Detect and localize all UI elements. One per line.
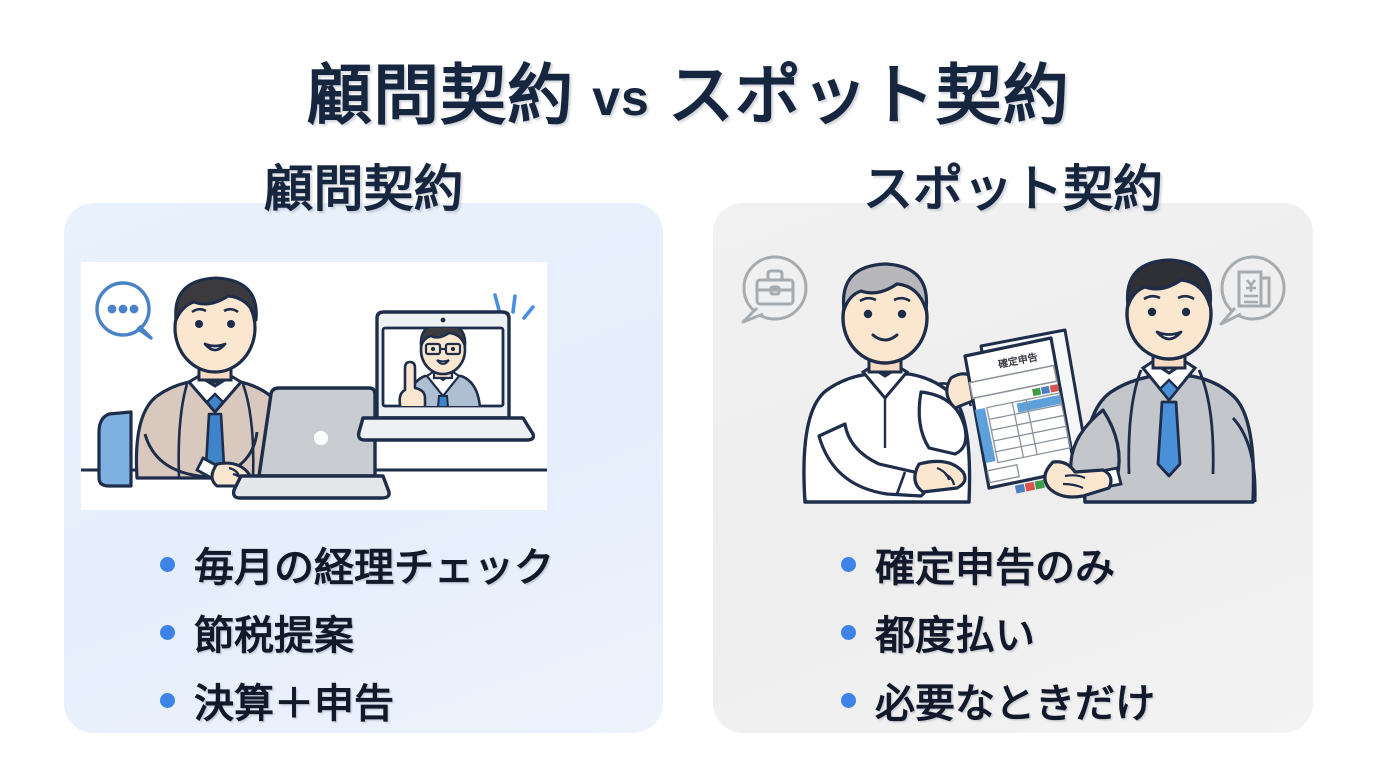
bullet-dot-icon (841, 625, 856, 640)
illustration-stage (81, 262, 547, 510)
spot-bullet-list: 確定申告のみ 都度払い 必要なときだけ (713, 535, 1313, 739)
illustration-stage: 確定申告 (713, 240, 1313, 513)
chat-bubble-dots (108, 305, 139, 314)
page-title: 顧問契約vsスポット契約 (0, 42, 1376, 138)
card-spot-heading: スポット契約 (713, 149, 1313, 221)
client-in-white-shirt (804, 264, 980, 502)
video-call-laptop (359, 312, 534, 440)
office-chair (99, 412, 131, 486)
list-item: 都度払い (841, 603, 1313, 661)
bullet-label: 確定申告のみ (875, 535, 1115, 593)
list-item: 決算＋申告 (160, 671, 663, 729)
advisory-bullet-list: 毎月の経理チェック 節税提案 決算＋申告 (64, 535, 663, 739)
online-consultation-illustration (64, 240, 663, 513)
bullet-label: 毎月の経理チェック (194, 535, 554, 593)
bullet-dot-icon (160, 693, 175, 708)
card-advisory-heading: 顧問契約 (64, 149, 663, 221)
title-right-term: スポット契約 (668, 58, 1070, 132)
bullet-dot-icon (160, 557, 175, 572)
online-consultation-svg (81, 262, 547, 510)
briefcase-bubble-icon (743, 257, 806, 322)
document-handover-illustration: 確定申告 (713, 240, 1313, 513)
title-left-term: 顧問契約 (306, 58, 574, 132)
bullet-dot-icon (160, 625, 175, 640)
list-item: 毎月の経理チェック (160, 535, 663, 593)
card-advisory: 顧問契約 (64, 203, 663, 733)
bullet-dot-icon (841, 693, 856, 708)
title-vs-label: vs (574, 70, 668, 126)
document-handover-svg: 確定申告 (713, 240, 1313, 513)
list-item: 確定申告のみ (841, 535, 1313, 593)
list-item: 節税提案 (160, 603, 663, 661)
bullet-label: 決算＋申告 (194, 671, 394, 729)
list-item: 必要なときだけ (841, 671, 1313, 729)
bullet-label: 必要なときだけ (875, 671, 1155, 729)
bullet-dot-icon (841, 557, 856, 572)
bullet-label: 都度払い (875, 603, 1035, 661)
infographic-page: 顧問契約vsスポット契約 顧問契約 (0, 0, 1376, 768)
yen-document-bubble-icon (1221, 257, 1284, 324)
card-spot: スポット契約 (713, 203, 1313, 733)
bullet-label: 節税提案 (194, 603, 354, 661)
